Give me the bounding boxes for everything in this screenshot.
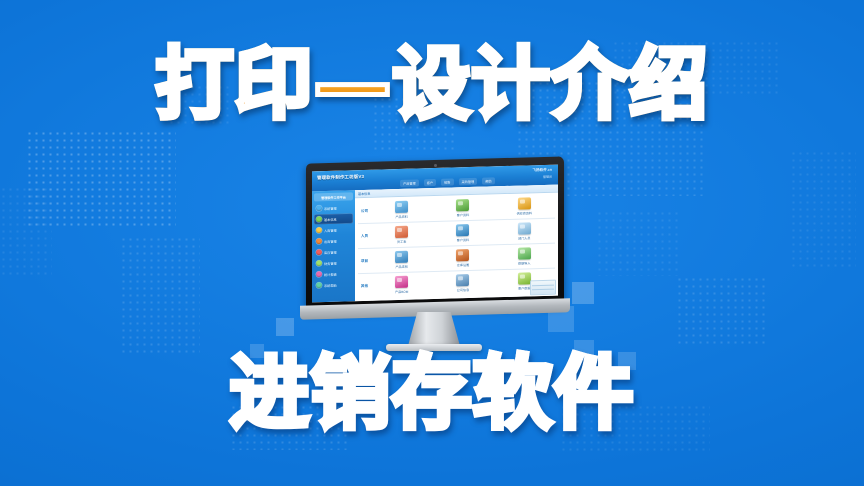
grid-cell-label: 产品资料 [395, 214, 407, 219]
document-stack-graphic [530, 280, 556, 296]
grid-cell-label: 部门人员 [518, 235, 530, 240]
warehouse-settings-icon [456, 249, 469, 261]
menu-item-products[interactable]: 产品管理 [400, 179, 419, 187]
poster-subline: 进销存软件 [0, 352, 864, 436]
sidebar-item-label: 基本信息 [324, 216, 337, 221]
app-brand-logo: 飞扬软件.cn [532, 168, 552, 174]
customer-data-grid-icon [518, 272, 531, 284]
sidebar-item-outbound[interactable]: 出库管理 [314, 235, 353, 246]
dotmap-cluster-pacific [790, 150, 856, 270]
grid-cell[interactable]: 公司信息 [441, 274, 485, 293]
grid-cell[interactable]: 产品类别 [380, 250, 424, 269]
headline-text: 打印—设计介绍 [155, 40, 708, 130]
grid-cell-label: 客户资料 [457, 212, 469, 217]
app-body: 管理软件工作平台 系统管理 基本信息 入库管理 [312, 185, 558, 303]
menu-item-sales[interactable]: 销售 [441, 178, 453, 185]
grid-cell[interactable]: 产品资料 [380, 200, 424, 219]
computer-monitor: 管理软件制作工坊版V3 飞扬软件.cn 管理员 产品管理 客户 销售 采购管理 … [300, 160, 568, 358]
app-sidebar: 管理软件工作平台 系统管理 基本信息 入库管理 [312, 190, 355, 302]
help-icon [316, 282, 322, 288]
sidebar-item-reports[interactable]: 统计报表 [314, 268, 353, 279]
grid-cell-label: 供应商资料 [517, 210, 532, 215]
grid-cell[interactable]: 产品BOM [380, 275, 424, 294]
grid-cell-label: 产品类别 [395, 264, 407, 269]
company-info-icon [456, 274, 469, 286]
system-icon [316, 205, 322, 211]
dotmap-cluster-southeast [596, 210, 682, 276]
grid-cell-label: 员工表 [397, 239, 406, 244]
subline-text: 进销存软件 [230, 347, 635, 440]
decor-square-2 [572, 282, 594, 304]
employee-icon [395, 226, 408, 238]
grid-cell-label: 产品BOM [395, 289, 408, 294]
grid-row-label: 公司 [358, 208, 371, 213]
grid-cell-label: 公司信息 [457, 287, 469, 292]
monitor-stand-neck [408, 312, 460, 346]
outbound-icon [316, 238, 322, 244]
supplier-data-icon [518, 197, 531, 209]
inventory-icon [316, 249, 322, 255]
grid-cell[interactable]: 员工表 [380, 225, 424, 244]
dotmap-cluster-west-edge [0, 186, 52, 276]
grid-row-label: 其他 [358, 283, 371, 288]
webcam-icon [434, 164, 437, 167]
sidebar-item-label: 出库管理 [324, 238, 337, 243]
sidebar-item-inventory[interactable]: 库存管理 [314, 246, 353, 257]
product-data-icon [395, 201, 408, 213]
reports-icon [316, 271, 322, 277]
app-content: 基本信息 公司 产品资料 [355, 185, 558, 302]
grid-row: 其他 产品BOM 公司信息 [358, 269, 555, 299]
grid-cell-label: 数据导入 [518, 260, 530, 265]
product-category-icon [395, 251, 408, 263]
menu-item-help[interactable]: 帮助 [482, 177, 494, 184]
grid-cell[interactable]: 供应商资料 [502, 197, 546, 216]
grid-row-label: 项目 [358, 258, 371, 263]
poster-headline: 打印—设计介绍 [0, 44, 864, 126]
sidebar-item-help[interactable]: 系统帮助 [314, 279, 353, 290]
department-staff-icon [518, 222, 531, 234]
app-menubar[interactable]: 产品管理 客户 销售 采购管理 帮助 [400, 177, 495, 187]
sidebar-item-finance[interactable]: 财务管理 [314, 257, 353, 268]
grid-cell[interactable]: 部门人员 [502, 222, 546, 241]
module-grid: 公司 产品资料 客户资料 [355, 193, 558, 299]
sidebar-item-basic-info[interactable]: 基本信息 [314, 213, 353, 224]
inbound-icon [316, 227, 322, 233]
poster-canvas: 打印—设计介绍 管理软件制作工坊版V3 飞扬软件.cn 管理员 产品管理 客户 … [0, 0, 864, 486]
grid-row-cells: 产品资料 客户资料 供应商资料 [371, 197, 555, 220]
customer-data-icon [456, 199, 469, 211]
grid-cell[interactable]: 数据导入 [502, 247, 546, 266]
grid-row-label: 人员 [358, 233, 371, 238]
sidebar-item-label: 系统帮助 [324, 282, 337, 287]
grid-cell-label: 客户数据 [518, 285, 530, 290]
sidebar-item-label: 系统管理 [324, 205, 337, 210]
grid-cell[interactable]: 客户资料 [441, 224, 485, 243]
app-window: 管理软件制作工坊版V3 飞扬软件.cn 管理员 产品管理 客户 销售 采购管理 … [312, 165, 558, 303]
sidebar-item-system[interactable]: 系统管理 [314, 202, 353, 213]
grid-cell[interactable]: 仓库设置 [441, 249, 485, 268]
monitor-screen: 管理软件制作工坊版V3 飞扬软件.cn 管理员 产品管理 客户 销售 采购管理 … [312, 165, 558, 303]
sidebar-header: 管理软件工作平台 [314, 192, 353, 201]
sidebar-item-inbound[interactable]: 入库管理 [314, 224, 353, 235]
product-bom-icon [395, 276, 408, 288]
app-user-label: 管理员 [543, 175, 552, 179]
grid-row-cells: 员工表 客户资料 部门人员 [371, 222, 555, 245]
menu-item-customers[interactable]: 客户 [424, 179, 436, 186]
decor-square-5 [276, 318, 294, 336]
dotmap-cluster-oceania [676, 276, 768, 346]
grid-cell[interactable]: 客户资料 [441, 199, 485, 218]
sidebar-item-label: 库存管理 [324, 249, 337, 254]
customer-profile-icon [456, 224, 469, 236]
data-import-icon [518, 247, 531, 259]
grid-cell-label: 仓库设置 [457, 262, 469, 267]
grid-row-cells: 产品BOM 公司信息 客户数据 [371, 272, 555, 295]
basic-info-icon [316, 216, 322, 222]
sidebar-item-label: 统计报表 [324, 271, 337, 276]
dotmap-cluster-south-america [120, 236, 200, 356]
grid-row-cells: 产品类别 仓库设置 数据导入 [371, 247, 555, 270]
app-title: 管理软件制作工坊版V3 [317, 174, 364, 181]
grid-cell-label: 客户资料 [457, 237, 469, 242]
sidebar-item-label: 入库管理 [324, 227, 337, 232]
finance-icon [316, 260, 322, 266]
sidebar-item-label: 财务管理 [324, 260, 337, 265]
menu-item-purchasing[interactable]: 采购管理 [459, 178, 478, 186]
